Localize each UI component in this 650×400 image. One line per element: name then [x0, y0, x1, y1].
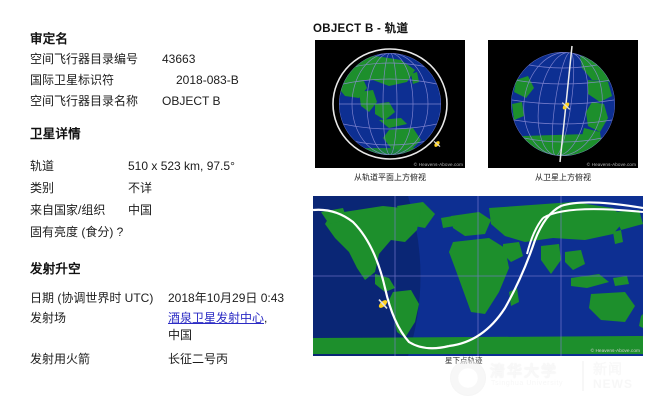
watermark-news-cn: 新闻: [593, 359, 623, 379]
ground-track-map[interactable]: © Heavens-Above.com: [313, 196, 643, 356]
launch-site-comma: ,: [264, 311, 267, 325]
value-international-designator: 2018-083-B: [176, 73, 239, 87]
map-caption-ground-track: 星下点轨迹: [445, 355, 483, 366]
value-launch-site-country: 中国: [168, 328, 192, 342]
globe-orbit-plane-svg: [315, 40, 465, 168]
left-info-column: 审定名 空间飞行器目录编号 43663 国际卫星标识符 2018-083-B 空…: [0, 0, 305, 400]
label-country: 来自国家/组织: [30, 203, 105, 217]
value-category: 不详: [128, 181, 152, 195]
globe-satellite-svg: [488, 40, 638, 168]
globe-caption-satellite-view: 从卫星上方俯视: [488, 172, 638, 183]
section-heading-launch: 发射升空: [30, 258, 81, 277]
value-launch-site-wrap: 酒泉卫星发射中心,: [168, 311, 267, 325]
label-category: 类别: [30, 181, 54, 195]
label-catalog-name: 空间飞行器目录名称: [30, 94, 138, 108]
label-international-designator: 国际卫星标识符: [30, 73, 114, 87]
section-heading-satellite-details: 卫星详情: [30, 123, 81, 142]
map-credit: © Heavens-Above.com: [591, 349, 640, 354]
launch-site-link[interactable]: 酒泉卫星发射中心: [168, 311, 264, 325]
label-orbit: 轨道: [30, 159, 54, 173]
watermark-university-cn: 清华大学: [490, 360, 558, 381]
value-orbit: 510 x 523 km, 97.5°: [128, 159, 235, 173]
ground-track-map-svg: [313, 196, 643, 356]
globe-image-orbit-plane-view[interactable]: © Heavens-Above.com: [315, 40, 465, 168]
label-catalog-number: 空间飞行器目录编号: [30, 52, 138, 66]
satellite-info-page: 审定名 空间飞行器目录编号 43663 国际卫星标识符 2018-083-B 空…: [0, 0, 650, 400]
value-launch-vehicle: 长征二号丙: [168, 352, 228, 366]
label-launch-vehicle: 发射用火箭: [30, 352, 90, 366]
right-orbit-column: OBJECT B - 轨道: [305, 0, 650, 400]
watermark-divider: [582, 361, 584, 391]
value-catalog-number: 43663: [162, 52, 195, 66]
watermark-university-en: Tsinghua University: [491, 380, 563, 387]
section-heading-designation: 审定名: [30, 28, 68, 47]
globe-credit-1: © Heavens-Above.com: [414, 162, 463, 167]
value-country: 中国: [128, 203, 152, 217]
globe-credit-2: © Heavens-Above.com: [587, 162, 636, 167]
panel-title-orbit: OBJECT B - 轨道: [313, 20, 408, 36]
value-catalog-name: OBJECT B: [162, 94, 220, 108]
globe-image-satellite-view[interactable]: © Heavens-Above.com: [488, 40, 638, 168]
value-launch-date: 2018年10月29日 0:43: [168, 291, 284, 305]
label-launch-date: 日期 (协调世界时 UTC): [30, 291, 153, 305]
globe-caption-orbit-plane: 从轨道平面上方俯视: [315, 172, 465, 183]
label-launch-site: 发射场: [30, 311, 66, 325]
label-intrinsic-brightness: 固有亮度 (食分) ?: [30, 225, 123, 239]
watermark-news-en: NEWS: [593, 377, 633, 391]
